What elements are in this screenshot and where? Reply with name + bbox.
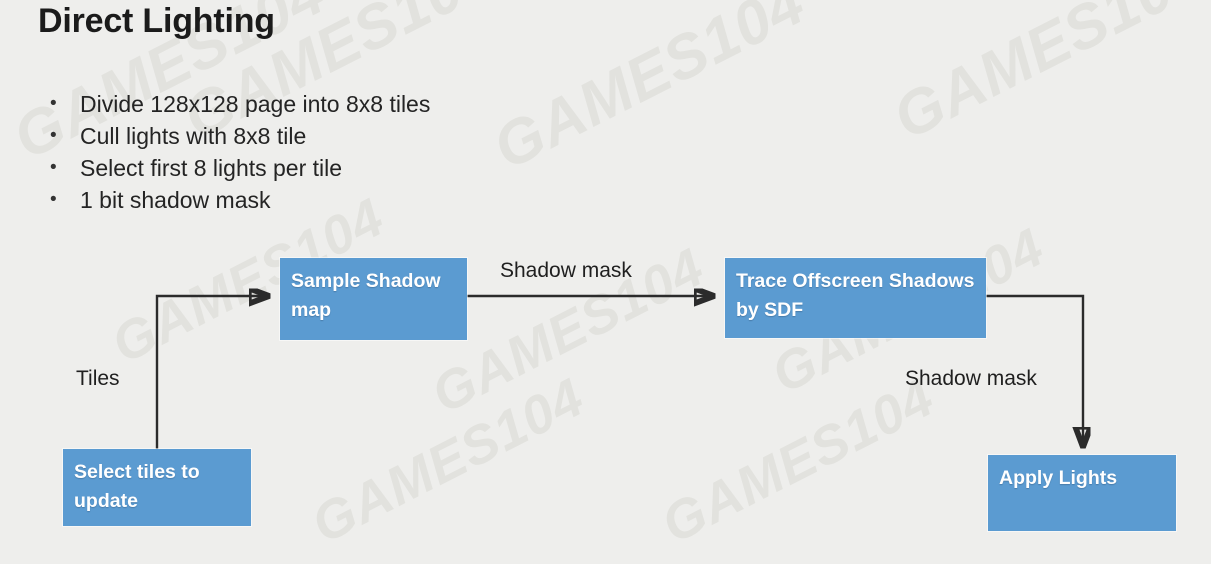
bullet-item: •Divide 128x128 page into 8x8 tiles (45, 88, 430, 120)
bullet-marker-icon: • (50, 88, 57, 120)
bullet-marker-icon: • (50, 184, 57, 216)
flow-node-trace-offscreen-shadows[interactable]: Trace Offscreen Shadows by SDF (725, 258, 986, 338)
flow-node-apply-lights[interactable]: Apply Lights (988, 455, 1176, 531)
bullet-text: Divide 128x128 page into 8x8 tiles (80, 91, 430, 117)
bullet-item: •Cull lights with 8x8 tile (45, 120, 430, 152)
bullet-list: •Divide 128x128 page into 8x8 tiles•Cull… (45, 88, 430, 216)
bullet-text: Select first 8 lights per tile (80, 155, 342, 181)
watermark-text: GAMES104 (882, 0, 1211, 154)
edge-select-tiles-to-sample (157, 296, 268, 449)
bullet-marker-icon: • (50, 152, 57, 184)
bullet-marker-icon: • (50, 120, 57, 152)
edge-label-shadow-mask-sample-to-trace: Shadow mask (500, 259, 632, 283)
bullet-item: •1 bit shadow mask (45, 184, 430, 216)
flow-node-sample-shadow-map[interactable]: Sample Shadow map (280, 258, 467, 340)
watermark-text: GAMES104 (302, 366, 594, 556)
flow-node-select-tiles[interactable]: Select tiles to update (63, 449, 251, 526)
bullet-item: •Select first 8 lights per tile (45, 152, 430, 184)
page-title: Direct Lighting (38, 2, 275, 41)
watermark-text: GAMES104 (652, 366, 944, 556)
bullet-text: 1 bit shadow mask (80, 187, 270, 213)
watermark-text: GAMES104 (482, 0, 816, 184)
edge-label-shadow-mask-trace-to-apply: Shadow mask (905, 367, 1037, 391)
edge-label-tiles: Tiles (76, 367, 120, 391)
slide-canvas: GAMES104GAMES104GAMES104GAMES104GAMES104… (0, 0, 1211, 564)
bullet-text: Cull lights with 8x8 tile (80, 123, 306, 149)
